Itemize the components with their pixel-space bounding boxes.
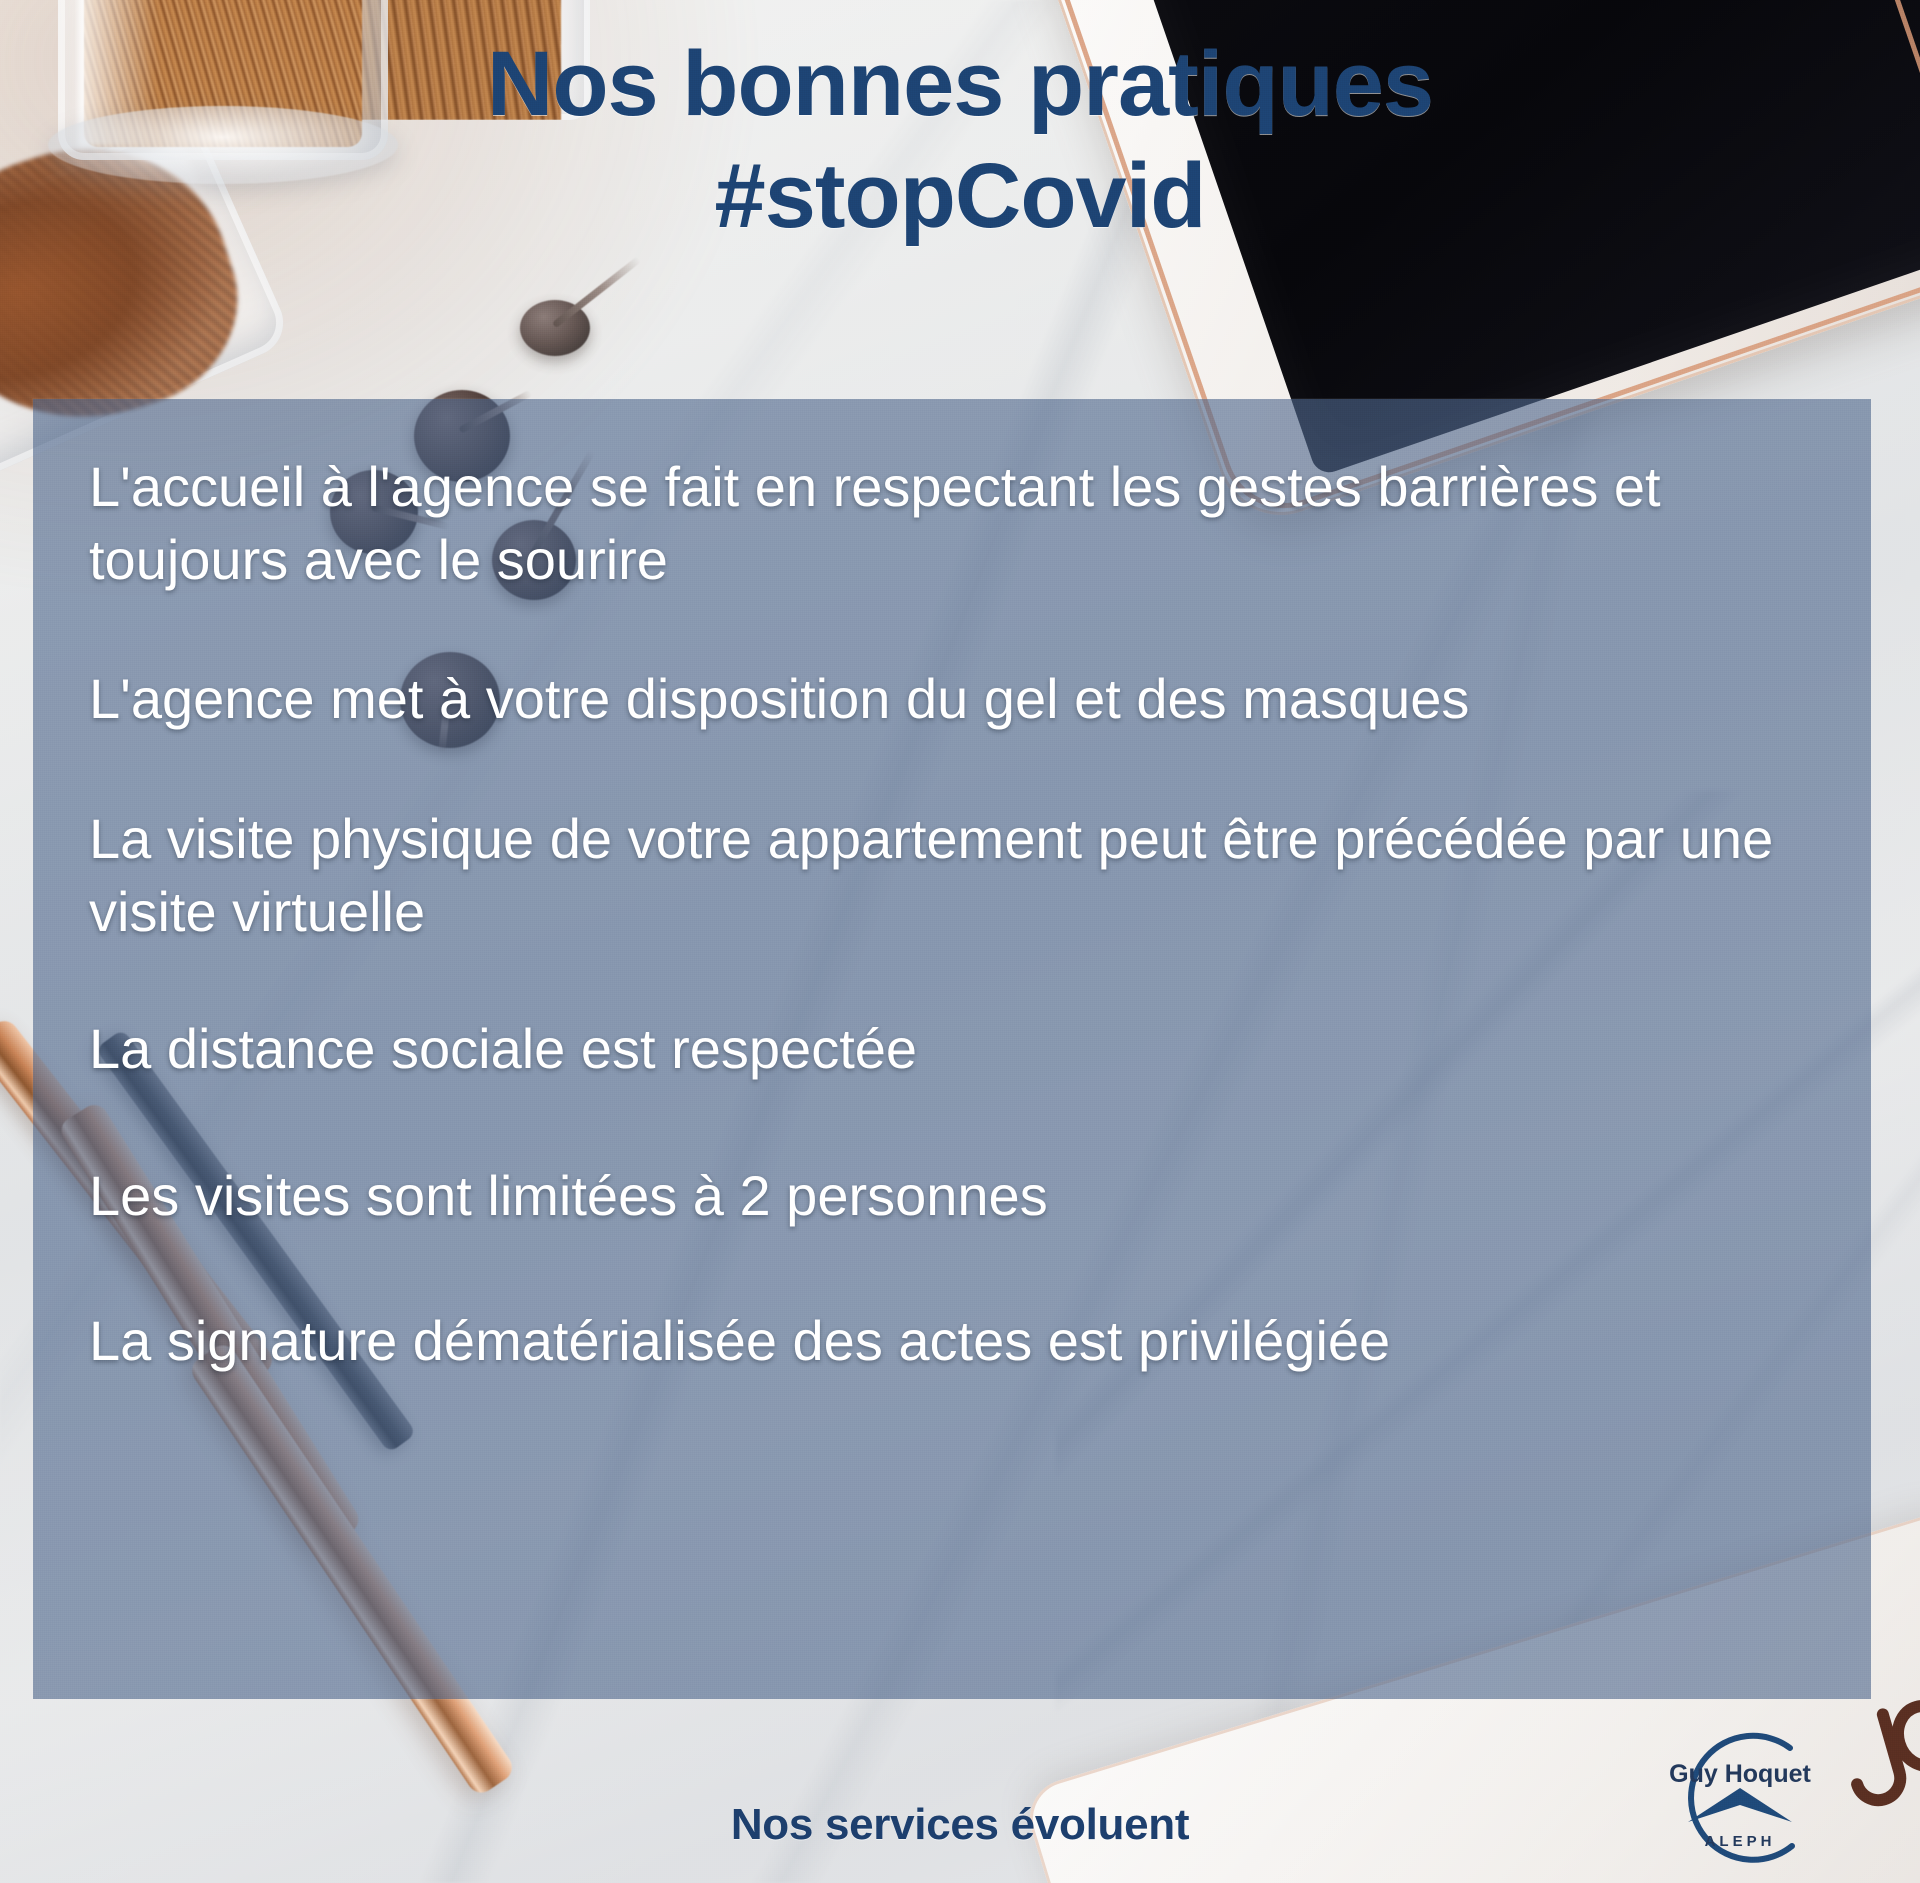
list-item: La signature dématérialisée des actes es… — [89, 1305, 1815, 1378]
practices-list: L'accueil à l'agence se fait en respecta… — [33, 399, 1871, 1699]
list-item: L'accueil à l'agence se fait en respecta… — [89, 451, 1815, 597]
guy-hoquet-logo: Guy Hoquet ALEPH — [1640, 1726, 1840, 1876]
list-item: L'agence met à votre disposition du gel … — [89, 663, 1815, 736]
guy-hoquet-wordmark: Guy Hoquet — [1669, 1760, 1811, 1788]
aleph-wordmark: ALEPH — [1705, 1833, 1776, 1850]
list-item: La distance sociale est respectée — [89, 1013, 1815, 1086]
poster-canvas: Nos bonnes pratiques #stopCovid L'accuei… — [0, 0, 1920, 1883]
practices-panel: L'accueil à l'agence se fait en respecta… — [33, 399, 1871, 1699]
list-item: Les visites sont limitées à 2 personnes — [89, 1160, 1815, 1233]
thumbtack — [520, 300, 590, 356]
page-title: Nos bonnes pratiques #stopCovid — [0, 28, 1920, 252]
footer-tagline: Nos services évoluent — [0, 1800, 1920, 1850]
list-item: La visite physique de votre appartement … — [89, 803, 1815, 949]
partner-jo-logo — [1838, 1700, 1920, 1820]
